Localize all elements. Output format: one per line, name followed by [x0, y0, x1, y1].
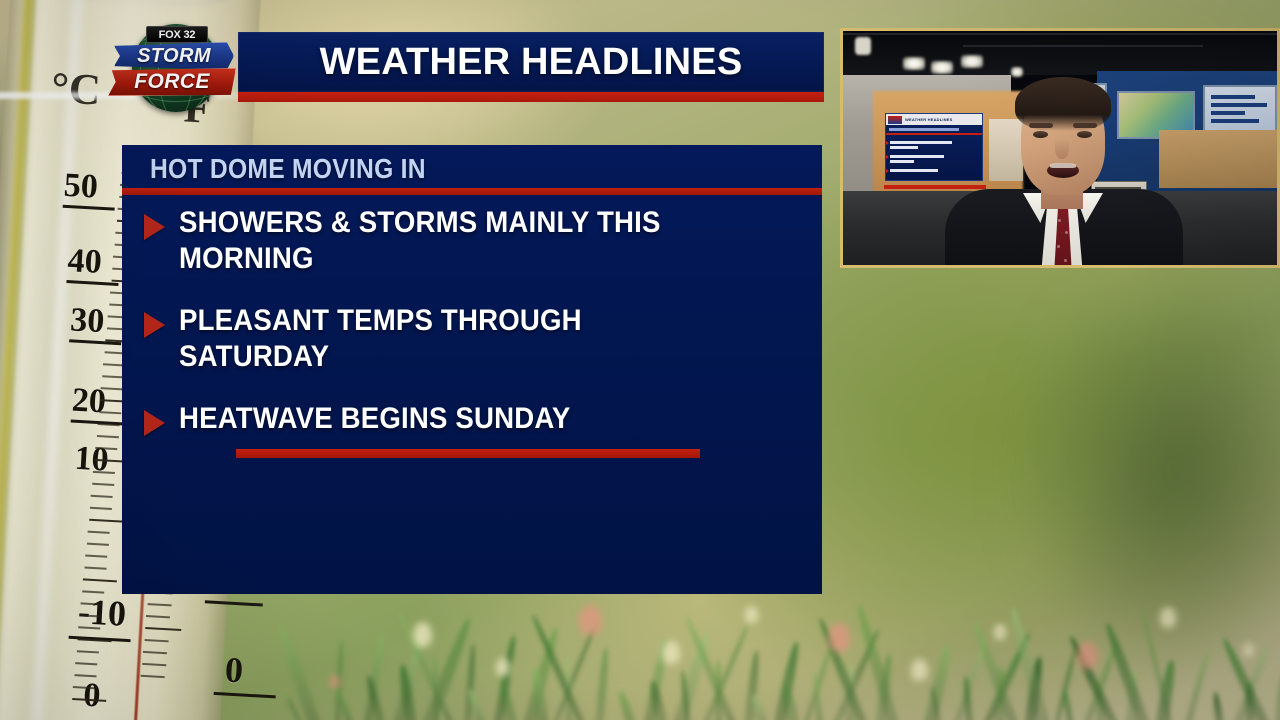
studio-wall-tan [1159, 130, 1277, 188]
headline-bullet-list: SHOWERS & STORMS MAINLY THIS MORNING PLE… [144, 205, 804, 463]
triangle-right-icon [886, 169, 889, 173]
page-title: WEATHER HEADLINES [320, 41, 743, 84]
thermometer-tick-30: 30 [69, 301, 105, 341]
studio-light-icon [855, 37, 871, 55]
studio-monitor-subtitle [889, 128, 959, 131]
studio-monitor-bullet [890, 160, 914, 163]
anchor-eye-left [1033, 131, 1048, 138]
studio-light-icon [961, 55, 983, 68]
triangle-right-icon [144, 312, 165, 338]
list-item: SHOWERS & STORMS MAINLY THIS MORNING [144, 205, 804, 277]
panel-accent-line [122, 188, 822, 195]
triangle-right-icon [144, 214, 165, 240]
bullet-text: SHOWERS & STORMS MAINLY THIS MORNING [179, 205, 694, 277]
anchor-brow-left [1029, 123, 1053, 128]
logo-banner-storm: STORM [114, 42, 234, 70]
studio-monitor-bullet [890, 146, 918, 149]
broadcast-screen: °C °F 50 40 30 20 10 20 -10 0 0 WEATHER … [0, 0, 1280, 720]
thermometer-tick-50: 50 [63, 167, 99, 207]
channel-label: FOX 32 [159, 29, 196, 41]
thermometer-tick-0c: 0 [82, 677, 101, 716]
bullet-text: PLEASANT TEMPS THROUGH SATURDAY [179, 303, 694, 375]
studio-monitor-logo-icon [888, 116, 902, 124]
logo-text-force: FORCE [134, 70, 210, 94]
thermometer-tick-40: 40 [67, 242, 103, 282]
triangle-right-icon [886, 155, 889, 159]
studio-monitor-bullet [890, 155, 944, 158]
list-item: PLEASANT TEMPS THROUGH SATURDAY [144, 303, 804, 375]
bullet-text: HEATWAVE BEGINS SUNDAY [179, 401, 571, 437]
headlines-panel: HOT DOME MOVING IN SHOWERS & STORMS MAIN… [122, 145, 822, 594]
thermometer-tick-0f: 0 [224, 649, 244, 692]
triangle-right-icon [144, 410, 165, 436]
logo-text-storm: STORM [137, 45, 211, 68]
anchor-brow-right [1073, 123, 1097, 128]
thermometer-unit-celsius: °C [50, 62, 102, 116]
anchor-teeth [1050, 163, 1076, 168]
studio-monitor-bullet [890, 141, 952, 144]
anchor-video-inset[interactable]: WEATHER HEADLINES [840, 28, 1280, 268]
studio-light-icon [903, 57, 925, 70]
header-accent-line [238, 92, 824, 102]
panel-bottom-accent-line [236, 449, 700, 458]
panel-subtitle: HOT DOME MOVING IN [150, 153, 426, 185]
studio-monitor-title: WEATHER HEADLINES [905, 117, 953, 122]
anchor-nose [1055, 139, 1069, 159]
triangle-right-icon [886, 141, 889, 145]
logo-banner-force: FORCE [108, 68, 236, 96]
anchor-person [963, 69, 1163, 268]
channel-badge: FOX 32 [146, 26, 208, 43]
studio-monitor-bullet [890, 169, 938, 172]
list-item: HEATWAVE BEGINS SUNDAY [144, 401, 804, 437]
fox32-storm-force-logo: FOX 32 STORM FORCE [104, 20, 240, 116]
weather-headlines-header: WEATHER HEADLINES [238, 32, 824, 92]
studio-light-icon [931, 61, 953, 74]
anchor-eye-right [1077, 131, 1092, 138]
